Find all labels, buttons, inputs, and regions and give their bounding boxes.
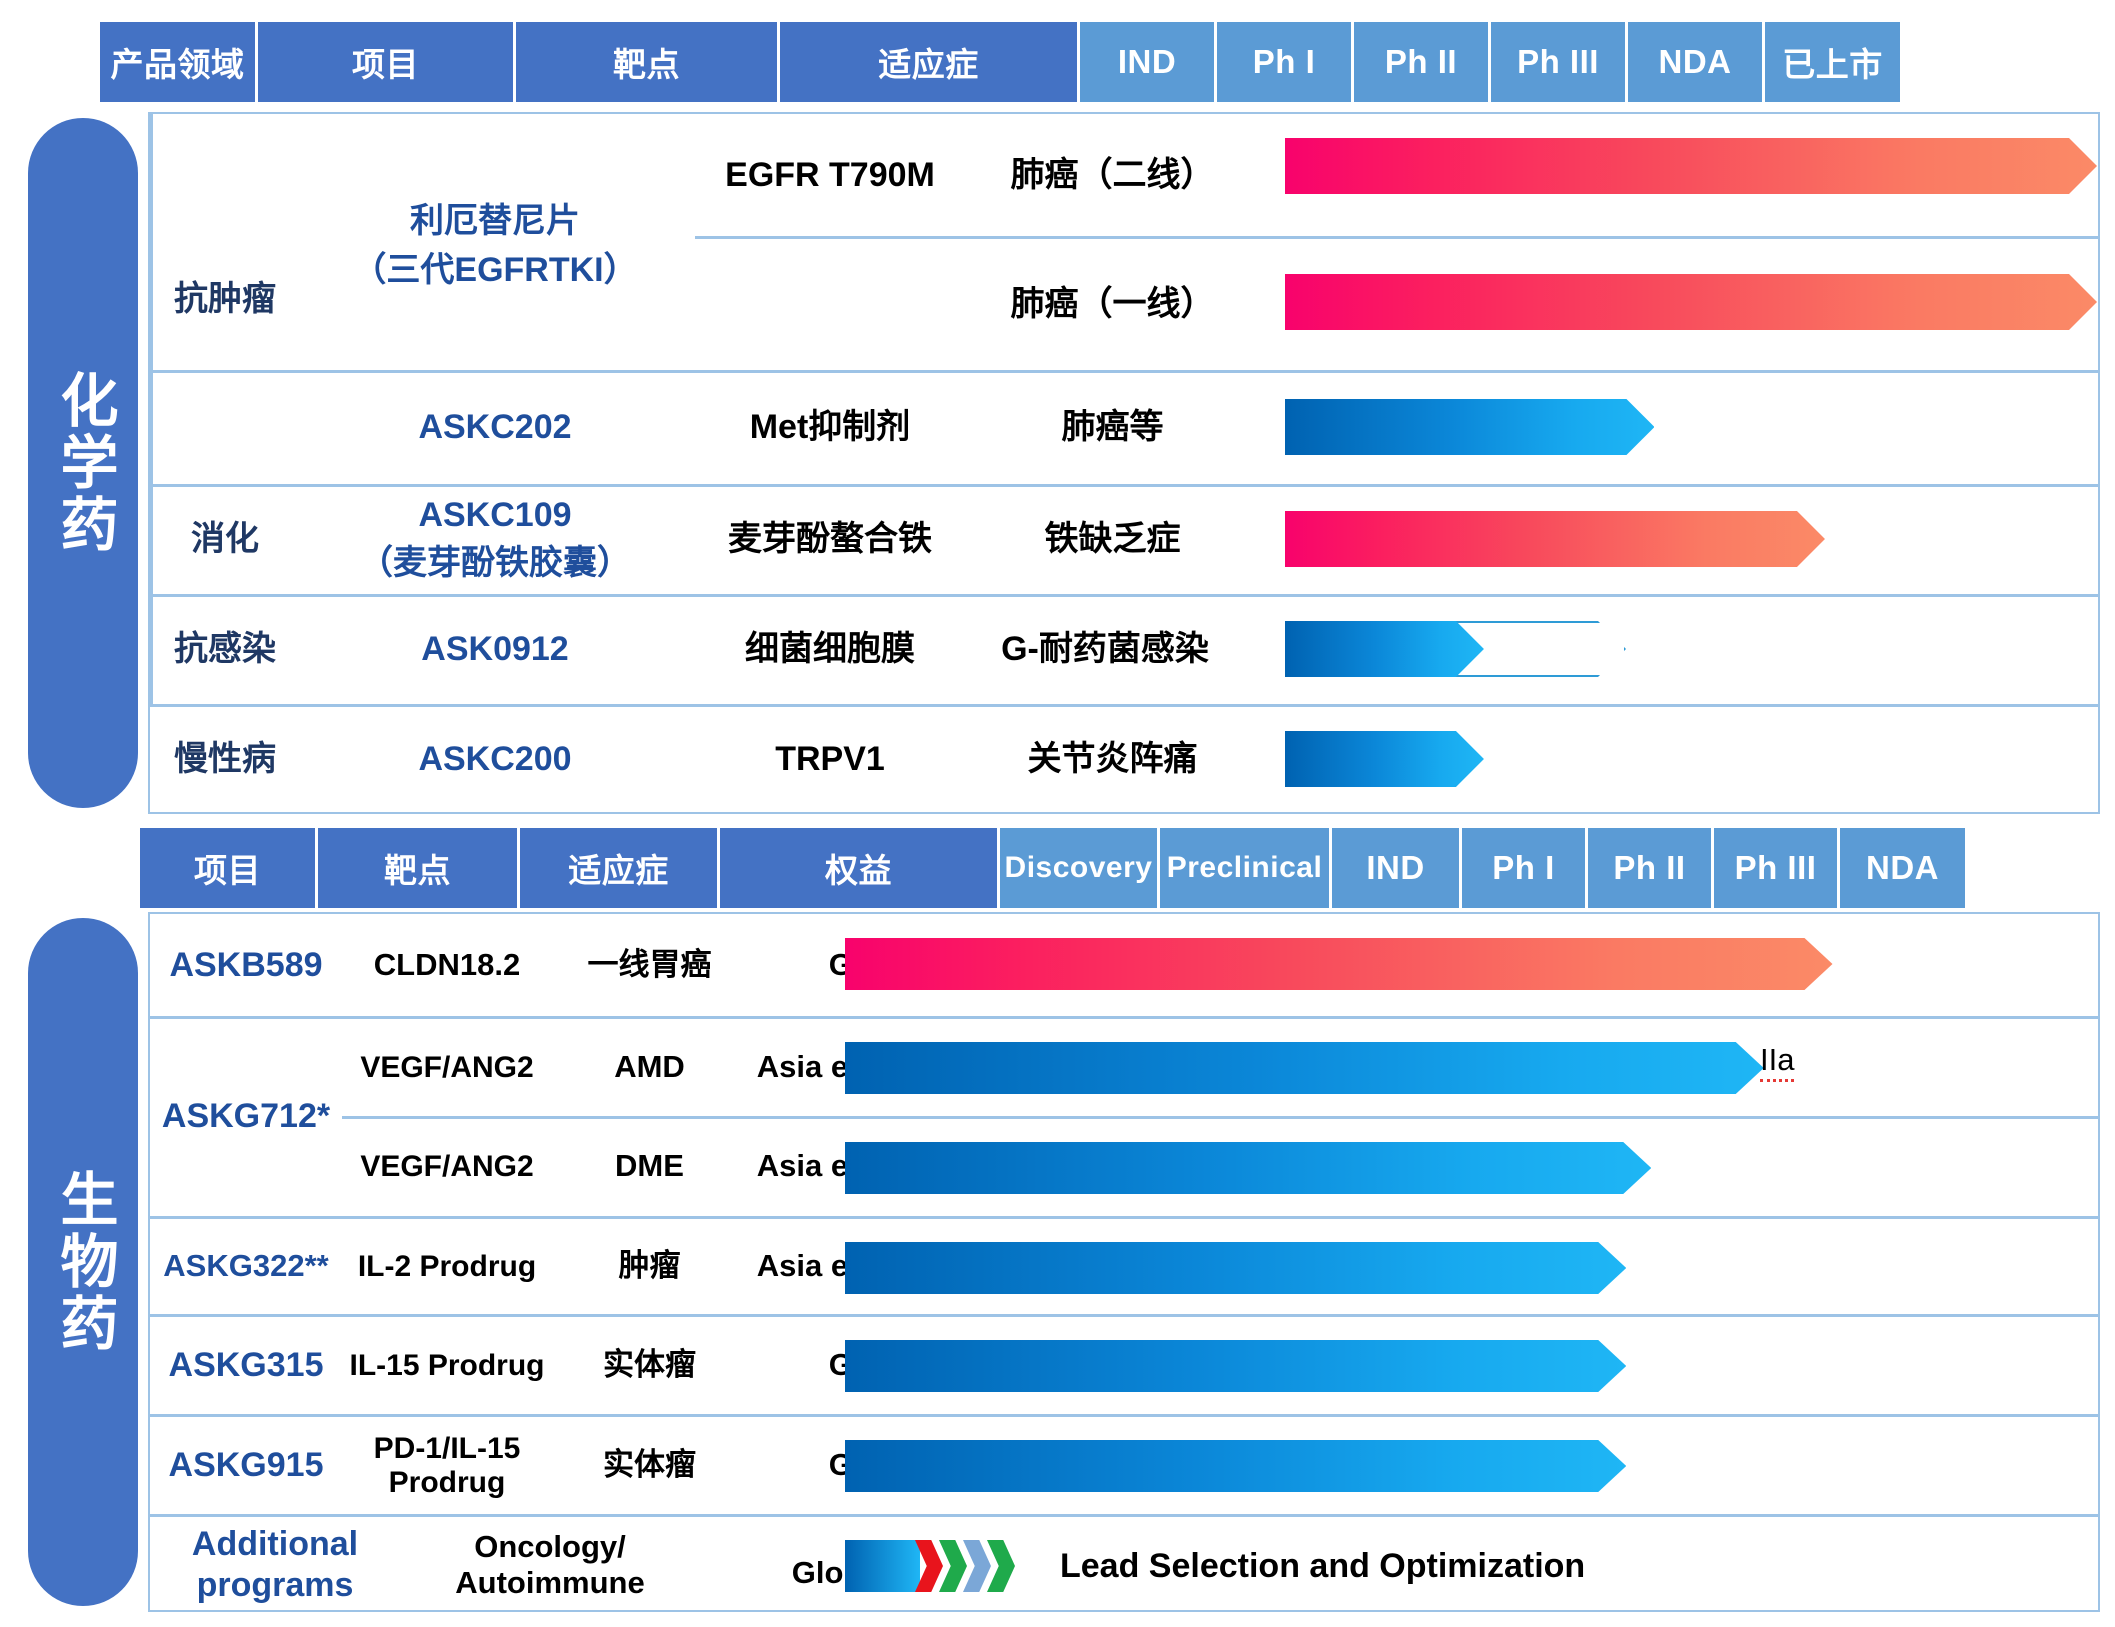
cell-target: 麦芽酚螯合铁 [695, 487, 965, 592]
header-phase-ph3: Ph III [1714, 828, 1840, 908]
cell-bio-target: IL-2 Prodrug [342, 1219, 552, 1314]
bio-target-line2: Prodrug [389, 1466, 506, 1500]
bar-track [845, 1042, 2095, 1094]
cell-project: ASKC109 （麦芽酚铁胶囊） [300, 487, 690, 592]
cell-bio-project: ASKB589 [150, 914, 342, 1016]
cell-bio-indication: 一线胃癌 [552, 914, 747, 1016]
subrow-divider [695, 236, 2098, 239]
bar-track [1285, 731, 2097, 787]
cell-bio-target: VEGF/ANG2 [342, 1119, 552, 1214]
pipeline-bar [1285, 274, 2097, 330]
header-bio-target: 靶点 [318, 828, 520, 908]
cell-project: ASK0912 [300, 597, 690, 702]
header-bio-project: 项目 [140, 828, 318, 908]
pipeline-bar [1285, 399, 1654, 455]
cell-product-area: 慢性病 [150, 707, 300, 812]
project-name-line1: 利厄替尼片 [410, 193, 580, 242]
pipeline-bar [1285, 621, 1484, 677]
cell-product-area: 消化 [150, 487, 300, 592]
header-bio-indication: 适应症 [520, 828, 720, 908]
category-chemical-drugs: 化学药 [28, 118, 138, 808]
bio-target-line1: Oncology/ [474, 1529, 626, 1565]
header-phase-ind: IND [1080, 22, 1217, 102]
header-phase-ph3: Ph III [1491, 22, 1628, 102]
project-name-line2: （三代EGFRTKI） [352, 242, 637, 291]
header-phase-preclinical: Preclinical [1160, 828, 1332, 908]
biologics-header-row: 项目 靶点 适应症 权益 Discovery Preclinical IND P… [140, 828, 2100, 908]
header-product-area: 产品领域 [100, 22, 258, 102]
bio-target-line1: PD-1/IL-15 [374, 1432, 521, 1466]
project-name-line2: （麦芽酚铁胶囊） [359, 535, 631, 584]
header-phase-ph2: Ph II [1588, 828, 1714, 908]
cell-product-area: 抗肿瘤 [150, 114, 300, 484]
pipeline-bar [1285, 511, 1825, 567]
header-target: 靶点 [516, 22, 780, 102]
cell-project: 利厄替尼片 （三代EGFRTKI） [300, 114, 690, 370]
pipeline-bar [845, 1340, 1626, 1392]
pipeline-chart: 产品领域 项目 靶点 适应症 IND Ph I Ph II Ph III NDA… [0, 0, 2115, 1627]
cell-target: Met抑制剂 [695, 373, 965, 481]
header-phase-nda: NDA [1840, 828, 1965, 908]
cell-target: 细菌细胞膜 [695, 597, 965, 702]
bar-track [845, 938, 2095, 990]
bar-annotation-phase2a: IIa [1760, 1042, 1794, 1082]
chevron-icon-2 [939, 1540, 967, 1592]
cell-indication: 关节炎阵痛 [965, 707, 1260, 812]
cell-bio-indication: DME [552, 1119, 747, 1214]
cell-target: EGFR T790M [695, 114, 965, 236]
stage-label-lead-selection: Lead Selection and Optimization [1060, 1540, 1585, 1592]
chevron-icon-3 [963, 1540, 991, 1592]
header-phase-marketed: 已上市 [1765, 22, 1900, 102]
category-biologics-label: 生物药 [51, 1169, 116, 1355]
cell-indication: 肺癌等 [965, 373, 1260, 481]
cell-bio-indication: 肿瘤 [552, 1219, 747, 1314]
pipeline-bar [845, 1242, 1626, 1294]
cell-bio-target: VEGF/ANG2 [342, 1019, 552, 1116]
cell-bio-target: PD-1/IL-15 Prodrug [342, 1417, 552, 1514]
cell-bio-project: ASKG315 [150, 1317, 342, 1414]
bar-track [1285, 274, 2097, 330]
header-bio-rights: 权益 [720, 828, 1000, 908]
header-phase-ind: IND [1332, 828, 1462, 908]
cell-bio-indication: 实体瘤 [552, 1317, 747, 1414]
category-biologics: 生物药 [28, 918, 138, 1606]
cell-bio-indication: 实体瘤 [552, 1417, 747, 1514]
header-indication: 适应症 [780, 22, 1080, 102]
cell-bio-target: IL-15 Prodrug [342, 1317, 552, 1414]
bar-track [1285, 399, 2097, 455]
chemical-header-row: 产品领域 项目 靶点 适应症 IND Ph I Ph II Ph III NDA… [100, 22, 2100, 102]
cell-product-area: 抗感染 [150, 597, 300, 702]
pipeline-bar [845, 1540, 920, 1592]
chevron-icon-4 [987, 1540, 1015, 1592]
pipeline-bar [1285, 138, 2097, 194]
header-phase-discovery: Discovery [1000, 828, 1160, 908]
header-phase-ph1: Ph I [1217, 22, 1354, 102]
cell-project: ASKC200 [300, 707, 690, 812]
pipeline-bar [845, 938, 1833, 990]
cell-bio-target: CLDN18.2 [342, 914, 552, 1016]
header-phase-ph2: Ph II [1354, 22, 1491, 102]
cell-project: ASKC202 [300, 373, 690, 481]
bio-target-line2: Autoimmune [455, 1565, 644, 1601]
bar-track [845, 1340, 2095, 1392]
cell-target: TRPV1 [695, 707, 965, 812]
header-phase-nda: NDA [1628, 22, 1765, 102]
pipeline-bar [1285, 731, 1484, 787]
cell-bio-project: ASKG322** [150, 1219, 342, 1314]
cell-bio-project: ASKG712* [150, 1019, 342, 1214]
bar-track [1285, 138, 2097, 194]
cell-bio-indication: AMD [552, 1019, 747, 1116]
pipeline-bar [845, 1042, 1764, 1094]
bar-track [1285, 621, 2097, 677]
cell-bio-project: Additional programs [145, 1517, 405, 1612]
chemical-body: 抗肿瘤 利厄替尼片 （三代EGFRTKI） EGFR T790M 肺癌（二线） … [148, 112, 2100, 814]
cell-indication: 肺癌（一线） [965, 239, 1260, 369]
project-name-line1: ASKC109 [418, 496, 571, 535]
cell-bio-project: ASKG915 [150, 1417, 342, 1514]
cell-bio-target: Oncology/ Autoimmune [405, 1517, 695, 1612]
cell-indication: 肺癌（二线） [965, 114, 1260, 236]
cell-indication: G-耐药菌感染 [950, 597, 1260, 702]
category-chemical-label: 化学药 [51, 370, 116, 556]
cell-indication: 铁缺乏症 [965, 487, 1260, 592]
pipeline-bar [845, 1142, 1651, 1194]
bar-track [1285, 511, 2097, 567]
biologics-body: ASKB589 CLDN18.2 一线胃癌 Global ASKG712* VE… [148, 912, 2100, 1612]
bar-track [845, 1440, 2095, 1492]
header-phase-ph1: Ph I [1462, 828, 1588, 908]
bar-track: Lead Selection and Optimization [845, 1540, 2095, 1592]
pipeline-bar [845, 1440, 1626, 1492]
bar-track [845, 1142, 2095, 1194]
bar-track [845, 1242, 2095, 1294]
header-project: 项目 [258, 22, 516, 102]
